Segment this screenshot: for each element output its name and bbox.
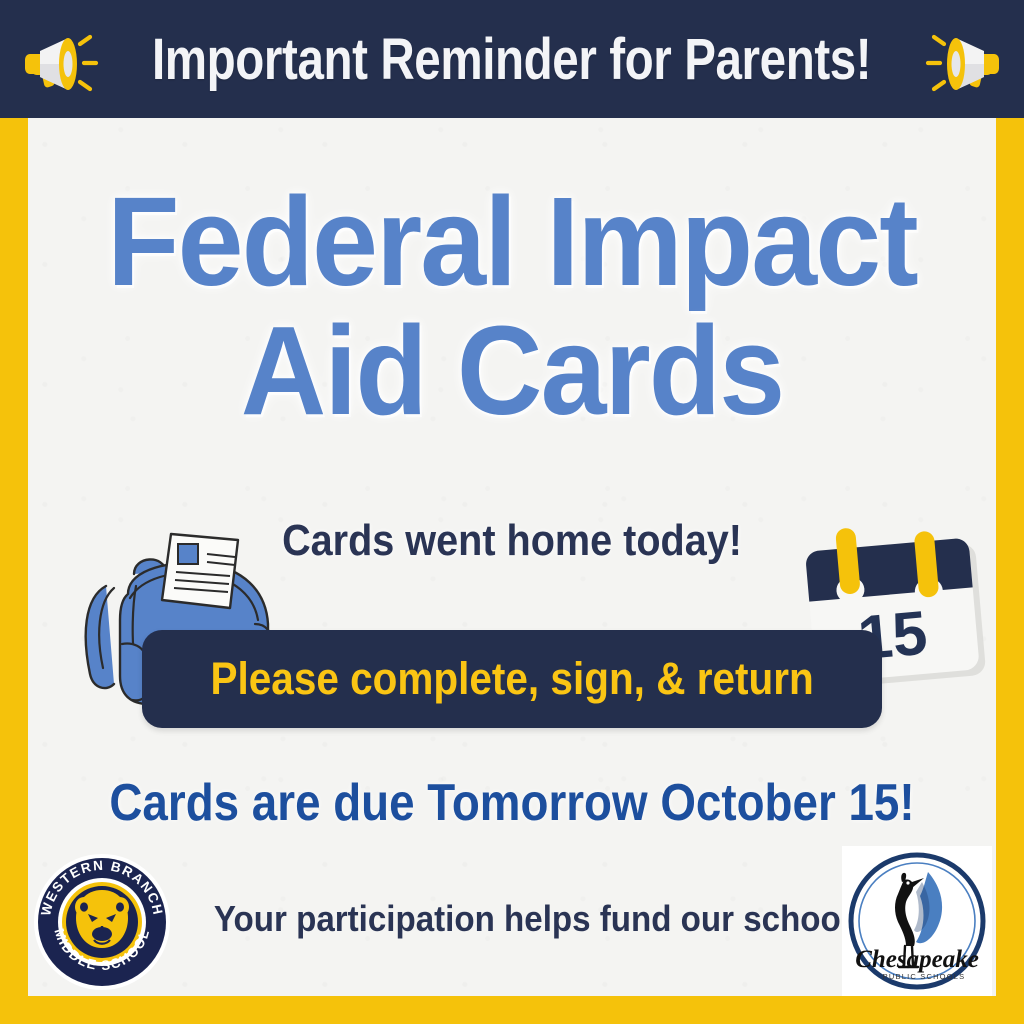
megaphone-icon (926, 26, 1006, 96)
header-title: Important Reminder for Parents! (152, 26, 871, 93)
western-branch-middle-school-logo: WESTERN BRANCH MIDDLE SCHOOL (32, 852, 172, 992)
page-title: Federal Impact Aid Cards (28, 180, 996, 433)
title-line-2: Aid Cards (57, 309, 967, 432)
content-panel: Federal Impact Aid Cards (28, 118, 996, 996)
call-to-action-text: Please complete, sign, & return (210, 653, 813, 705)
flyer-canvas: Important Reminder for Parents! Federa (0, 0, 1024, 1024)
header-banner: Important Reminder for Parents! (0, 0, 1024, 118)
chesapeake-public-schools-logo: Chesapeake PUBLIC SCHOOLS (842, 846, 992, 996)
due-date-text: Cards are due Tomorrow October 15! (86, 773, 938, 833)
subtitle-text: Cards went home today! (76, 516, 947, 566)
footer-text: Your participation helps fund our school… (214, 898, 810, 940)
district-logo-script-text: Chesapeake (855, 946, 979, 973)
megaphone-icon (18, 26, 98, 96)
call-to-action-banner[interactable]: Please complete, sign, & return (142, 630, 882, 728)
district-logo-sub-text: PUBLIC SCHOOLS (883, 972, 966, 981)
footer-row: WESTERN BRANCH MIDDLE SCHOOL Your partic… (28, 846, 996, 996)
title-line-1: Federal Impact (57, 180, 967, 303)
